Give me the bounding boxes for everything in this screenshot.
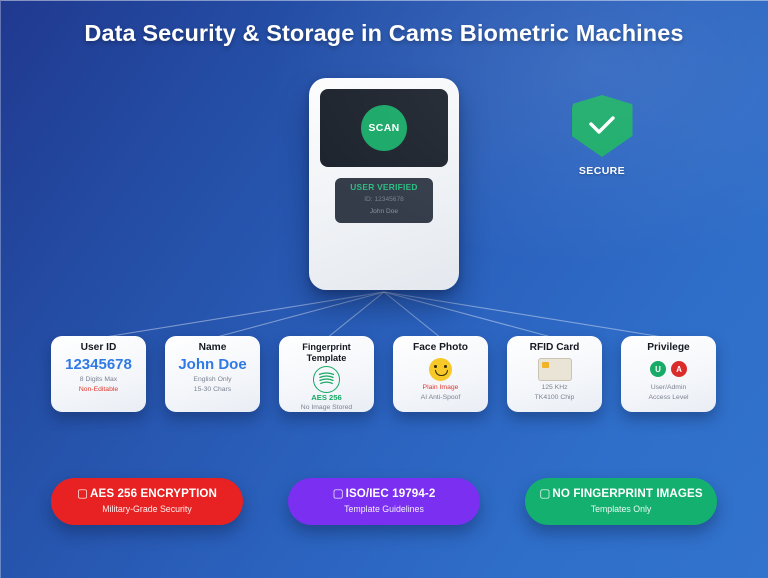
data-card-face-photo[interactable]: Face Photo Plain Image AI Anti-Spoof	[393, 336, 488, 412]
card-value: John Doe	[165, 355, 260, 374]
connector-line	[327, 292, 384, 338]
card-title-line-2: Template	[279, 353, 374, 364]
badge-title: ▢NO FINGERPRINT IMAGES	[525, 485, 717, 502]
badge-title-text: NO FINGERPRINT IMAGES	[552, 487, 702, 500]
card-subtitle-1: Plain Image	[393, 382, 488, 393]
fingerprint-ridges-icon	[318, 372, 335, 386]
smiley-face-icon	[429, 358, 452, 381]
data-card-rfid[interactable]: RFID Card 125 KHz TK4100 Chip	[507, 336, 602, 412]
lock-icon: ▢	[77, 486, 88, 500]
scan-button[interactable]: SCAN	[361, 105, 407, 151]
verification-status: USER VERIFIED	[335, 181, 433, 194]
badge-title-text: AES 256 ENCRYPTION	[90, 487, 217, 500]
data-card-fingerprint-template[interactable]: Fingerprint Template AES 256 No Image St…	[279, 336, 374, 412]
badge-title: ▢ISO/IEC 19794-2	[288, 485, 480, 502]
shield-icon	[572, 95, 633, 157]
card-title: RFID Card	[507, 342, 602, 354]
check-icon	[587, 114, 617, 138]
verification-result-panel: USER VERIFIED ID: 12345678 John Doe	[335, 178, 433, 223]
card-value: 12345678	[51, 355, 146, 374]
verification-user-name: John Doe	[335, 206, 433, 218]
badge-subtitle: Military-Grade Security	[51, 502, 243, 516]
card-subtitle-2: 15-30 Chars	[165, 385, 260, 395]
connector-line	[384, 292, 441, 338]
card-subtitle-1: English Only	[165, 374, 260, 385]
smile-mouth-icon	[435, 370, 448, 376]
badge-aes-encryption[interactable]: ▢AES 256 ENCRYPTION Military-Grade Secur…	[51, 478, 243, 525]
no-image-icon: ▢	[539, 486, 550, 500]
page-title: Data Security & Storage in Cams Biometri…	[0, 20, 768, 47]
badge-title: ▢AES 256 ENCRYPTION	[51, 485, 243, 502]
biometric-device-mockup: SCAN USER VERIFIED ID: 12345678 John Doe	[309, 78, 459, 290]
fingerprint-circle	[313, 366, 340, 393]
device-screen: SCAN	[320, 89, 448, 167]
card-subtitle-2: AI Anti-Spoof	[393, 393, 488, 403]
card-subtitle-1: User/Admin	[621, 382, 716, 393]
card-subtitle-2: Non-Editable	[51, 385, 146, 395]
document-icon: ▢	[333, 486, 344, 500]
rfid-card-shape	[538, 358, 572, 381]
connector-line	[99, 292, 384, 338]
card-title-line-1: Fingerprint	[279, 342, 374, 353]
badge-title-text: ISO/IEC 19794-2	[346, 487, 436, 500]
secure-label: SECURE	[571, 165, 633, 177]
connector-line	[213, 292, 384, 338]
card-subtitle-2: TK4100 Chip	[507, 393, 602, 403]
data-card-privilege[interactable]: Privilege U A User/Admin Access Level	[621, 336, 716, 412]
rfid-card-icon	[507, 356, 602, 382]
badge-subtitle: Templates Only	[525, 502, 717, 516]
card-subtitle-1: 8 Digits Max	[51, 374, 146, 385]
verification-user-id: ID: 12345678	[335, 194, 433, 206]
card-subtitle-1: AES 256	[279, 392, 374, 403]
privilege-badges-icon: U A	[621, 356, 716, 382]
card-title: Face Photo	[393, 342, 488, 354]
fingerprint-icon	[279, 366, 374, 392]
card-title: User ID	[51, 342, 146, 354]
eye-right-icon	[444, 365, 447, 369]
card-title: Privilege	[621, 342, 716, 354]
chip-icon	[542, 362, 549, 368]
card-subtitle-1: 125 KHz	[507, 382, 602, 393]
secure-badge: SECURE	[571, 95, 633, 177]
face-emoji-icon	[393, 356, 488, 382]
connector-line	[384, 292, 669, 338]
card-title: Name	[165, 342, 260, 354]
data-card-name[interactable]: Name John Doe English Only 15-30 Chars	[165, 336, 260, 412]
badge-iso-standard[interactable]: ▢ISO/IEC 19794-2 Template Guidelines	[288, 478, 480, 525]
eye-left-icon	[434, 365, 437, 369]
badge-no-fingerprint-images[interactable]: ▢NO FINGERPRINT IMAGES Templates Only	[525, 478, 717, 525]
infographic-canvas: Data Security & Storage in Cams Biometri…	[0, 0, 768, 578]
admin-badge-icon: A	[671, 361, 687, 377]
card-subtitle-2: Access Level	[621, 393, 716, 403]
card-subtitle-2: No Image Stored	[279, 403, 374, 413]
connector-line	[384, 292, 555, 338]
data-card-user-id[interactable]: User ID 12345678 8 Digits Max Non-Editab…	[51, 336, 146, 412]
badge-subtitle: Template Guidelines	[288, 502, 480, 516]
user-badge-icon: U	[650, 361, 666, 377]
privilege-row: U A	[650, 361, 687, 377]
